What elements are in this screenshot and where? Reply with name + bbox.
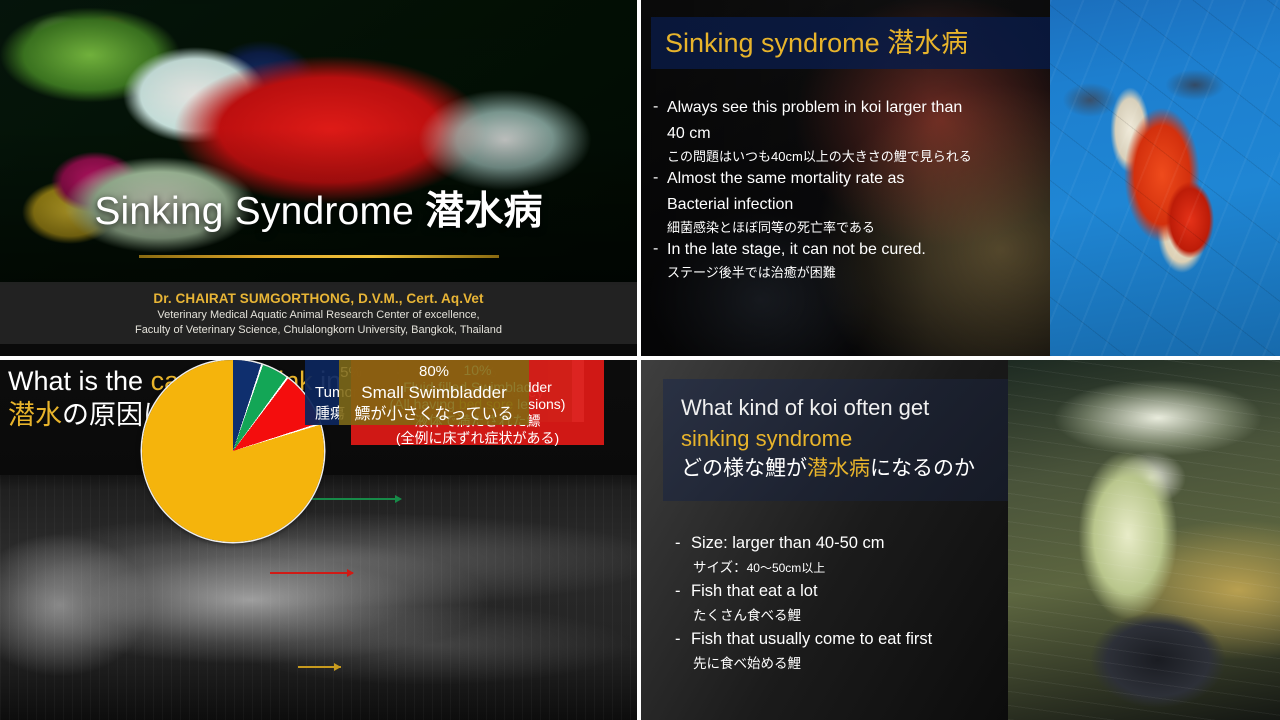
title-line-2: sinking syndrome — [681, 423, 1008, 455]
slide-grid: Sinking Syndrome 潜水病 Dr. CHAIRAT SUMGORT… — [0, 0, 1280, 720]
slide-title[interactable]: Sinking Syndrome 潜水病 Dr. CHAIRAT SUMGORT… — [0, 0, 637, 356]
author-band: Dr. CHAIRAT SUMGORTHONG, D.V.M., Cert. A… — [0, 282, 637, 344]
affiliation-line-2: Faculty of Veterinary Science, Chulalong… — [0, 323, 637, 338]
bullet-list: - Always see this problem in koi larger … — [653, 95, 1051, 282]
bullet-text-jp: 細菌感染とほぼ同等の死亡率である — [653, 218, 1051, 237]
page-title: Sinking Syndrome 潜水病 — [94, 188, 542, 236]
callout-percent: 80% — [339, 362, 529, 382]
bullet-dash: - — [653, 237, 667, 262]
koi-blue-tank-photo — [1050, 0, 1280, 356]
cause-pie-chart — [142, 360, 324, 542]
title-line-1: What kind of koi often get — [681, 393, 1008, 423]
list-item: - Almost the same mortality rate as — [653, 166, 1051, 191]
slide-what-kind-of-koi[interactable]: What kind of koi often get sinking syndr… — [641, 360, 1280, 720]
bullet-text-en: Always see this problem in koi larger th… — [667, 95, 962, 120]
bullet-text-en: Fish that eat a lot — [691, 578, 818, 604]
list-item: - Fish that eat a lot — [675, 578, 1015, 604]
list-item-cont: Bacterial infection — [653, 192, 1051, 217]
bullet-text-en: Size: larger than 40-50 cm — [691, 530, 885, 556]
bullet-indent-spacer — [653, 192, 667, 217]
bullet-text-en: Almost the same mortality rate as — [667, 166, 904, 191]
bullet-text-en: In the late stage, it can not be cured. — [667, 237, 926, 262]
bullet-dash: - — [653, 166, 667, 191]
list-item-cont: 40 cm — [653, 121, 1051, 146]
pie-slices — [142, 360, 324, 542]
list-item: - In the late stage, it can not be cured… — [653, 237, 1051, 262]
slide-sinking-syndrome[interactable]: Sinking syndrome 潜水病 - Always see this p… — [641, 0, 1280, 356]
koi-closeup-photo — [0, 0, 637, 285]
bullet-text-jp: たくさん食べる鯉 — [675, 606, 1015, 626]
list-item: - Fish that usually come to eat first — [675, 626, 1015, 652]
slide-cause-of-sink[interactable]: What is the cause of Sink in Koi? 潜水の原因は… — [0, 360, 637, 720]
bullet-text-en-2: 40 cm — [667, 121, 711, 146]
bullet-dash: - — [675, 530, 691, 556]
slide-title-bar: Sinking syndrome 潜水病 — [651, 17, 1050, 69]
bullet-text-en-2: Bacterial infection — [667, 192, 793, 217]
slide-title-text: Sinking syndrome 潜水病 — [651, 27, 968, 59]
title-line-3: どの様な鯉が潜水病になるのか — [681, 455, 1008, 483]
author-name: Dr. CHAIRAT SUMGORTHONG, D.V.M., Cert. A… — [0, 290, 637, 308]
list-item: - Size: larger than 40-50 cm — [675, 530, 1015, 556]
bullet-text-jp: 先に食べ始める鯉 — [675, 654, 1015, 674]
affiliation-line-1: Veterinary Medical Aquatic Animal Resear… — [0, 308, 637, 323]
bullet-list: - Size: larger than 40-50 cm サイズ：40〜50cm… — [675, 530, 1015, 674]
bullet-dash: - — [675, 626, 691, 652]
bullet-dash: - — [653, 95, 667, 120]
list-item: - Always see this problem in koi larger … — [653, 95, 1051, 120]
bullet-text-en: Fish that usually come to eat first — [691, 626, 932, 652]
bullet-indent-spacer — [653, 121, 667, 146]
bullet-text-jp: この問題はいつも40cm以上の大きさの鯉で見られる — [653, 147, 1051, 166]
bullet-text-jp: ステージ後半では治癒が困難 — [653, 263, 1051, 282]
callout-label-jp: 鰾が小さくなっている — [339, 404, 529, 425]
title-underline-rule — [139, 255, 499, 258]
callout-label-jp-sub: (全例に床ずれ症状がある) — [351, 430, 604, 447]
callout-label-en: Small Swimbladder — [339, 382, 529, 404]
callout-small-swimbladder[interactable]: 80% Small Swimbladder 鰾が小さくなっている — [339, 360, 529, 425]
title-block: Sinking Syndrome 潜水病 — [0, 188, 637, 236]
slide-title-box: What kind of koi often get sinking syndr… — [663, 379, 1008, 501]
bullet-dash: - — [675, 578, 691, 604]
koi-surface-photo — [1008, 360, 1280, 720]
bullet-text-jp: サイズ：40〜50cm以上 — [675, 558, 1015, 578]
